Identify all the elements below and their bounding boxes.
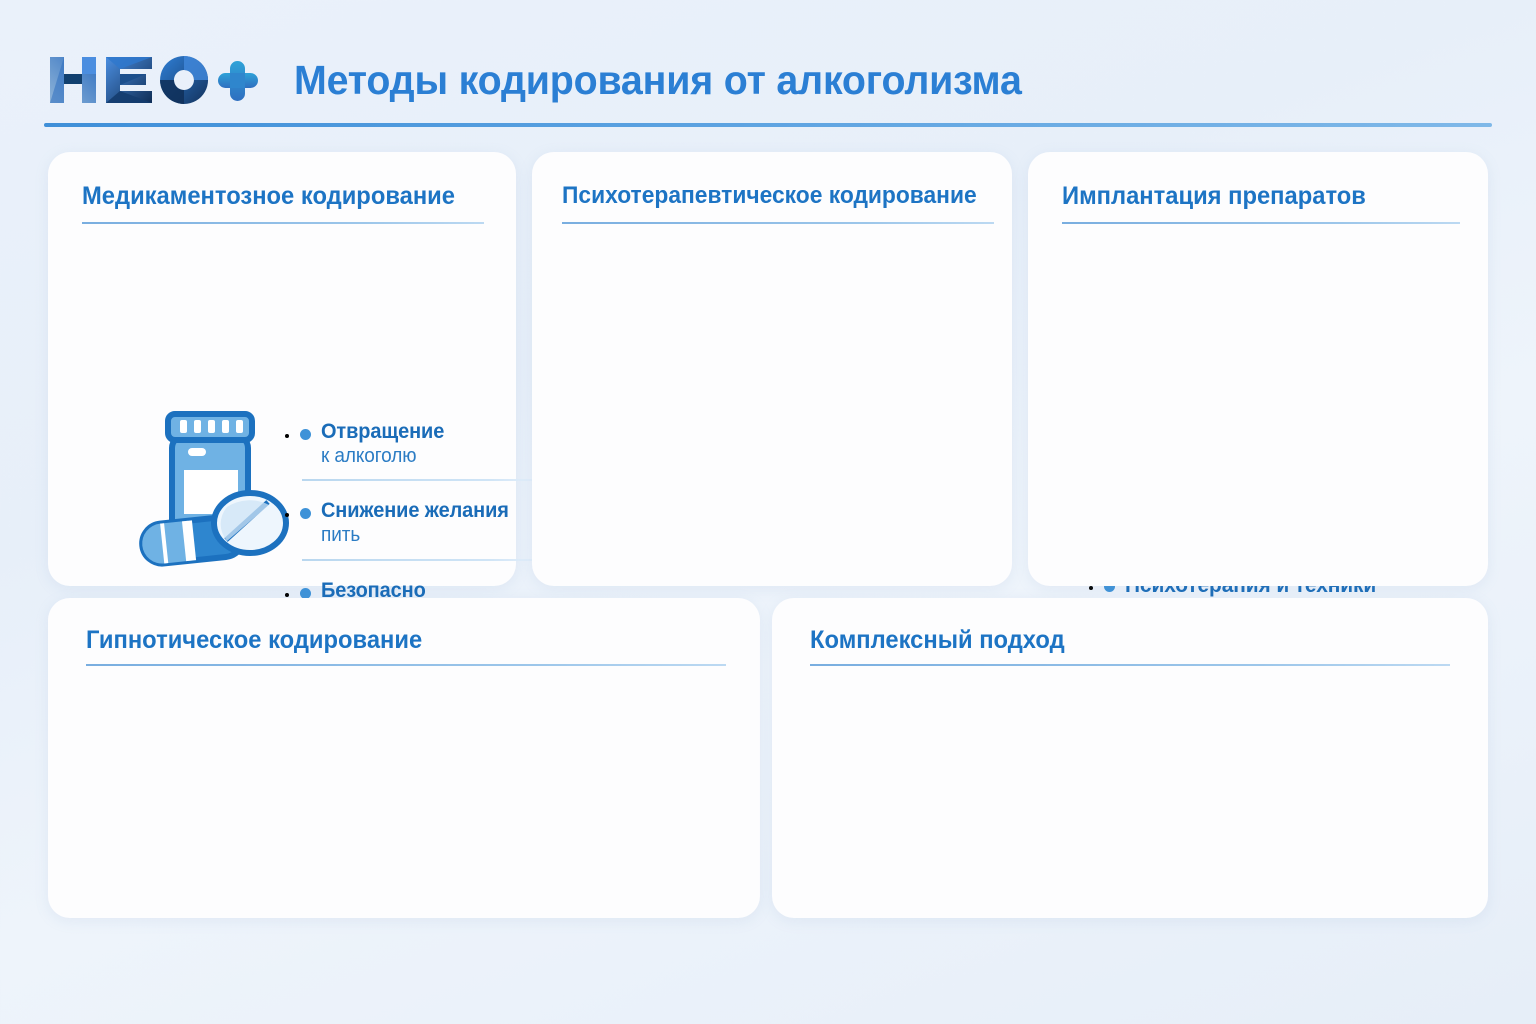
list-item-primary: Снижение желания (321, 499, 509, 524)
header-divider (44, 123, 1492, 127)
list-item-divider (302, 559, 534, 561)
page-header: Методы кодирования от алкоголизма (48, 34, 1488, 126)
list-item-primary: Отвращение (321, 420, 444, 445)
card-title-divider (810, 664, 1450, 666)
card-title: Медикаментозное кодирование (82, 182, 455, 211)
bullet-dot-icon (300, 508, 311, 519)
card-title-divider (1062, 222, 1460, 224)
card-title: Психотерапевтическое кодирование (562, 182, 977, 210)
bullet-dot-icon (300, 429, 311, 440)
neo-plus-logo-icon (48, 53, 260, 107)
list-item-secondary: пить (321, 524, 509, 548)
card-title: Имплантация препаратов (1062, 182, 1366, 211)
list-item-divider (302, 479, 534, 481)
list-item: Снижение желания пить (300, 499, 538, 560)
list-item: Отвращение к алкоголю (300, 420, 538, 481)
card-hypnotic-coding: Гипнотическое кодирование Гипноз подсозн… (48, 598, 760, 918)
card-title-divider (562, 222, 994, 224)
page-title: Методы кодирования от алкоголизма (294, 57, 1022, 104)
card-title: Комплексный подход (810, 626, 1065, 655)
pill-bottle-icon (126, 400, 298, 572)
list-item-secondary: к алкоголю (321, 445, 444, 469)
card-psychotherapy-coding: Психотерапевтическое кодирование (532, 152, 1012, 586)
card-title-divider (86, 664, 726, 666)
benefits-list: Отвращение к алкоголю Снижение желания п… (300, 420, 538, 627)
card-title: Гипнотическое кодирование (86, 626, 422, 655)
card-medication-coding: Медикаментозное кодирование (48, 152, 516, 586)
card-implantation: Имплантация препаратов (1028, 152, 1488, 586)
card-complex-approach: Комплексный подход (772, 598, 1488, 918)
card-title-divider (82, 222, 484, 224)
